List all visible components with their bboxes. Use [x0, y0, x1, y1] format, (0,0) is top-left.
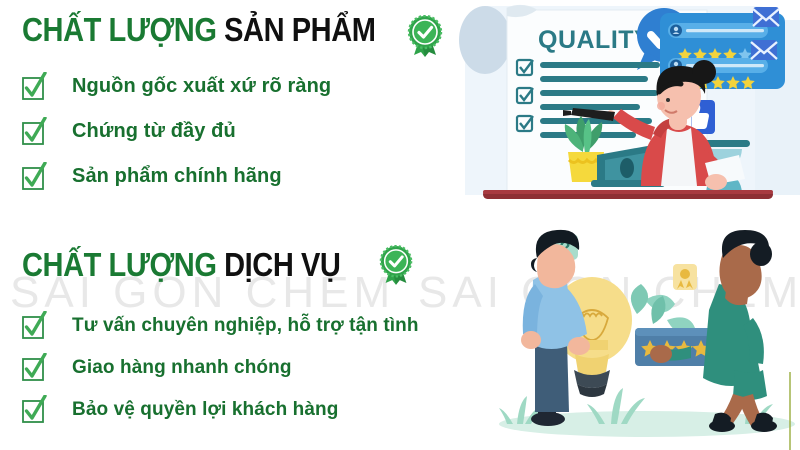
certified-seal-icon-service: [378, 245, 414, 285]
checkbox-checked-icon: [20, 162, 48, 192]
list-item-label: Sản phẩm chính hãng: [72, 165, 282, 188]
list-item: Tư vấn chuyên nghiệp, hỗ trợ tận tình: [20, 305, 419, 347]
service-handoff-illustration: ?: [495, 228, 800, 450]
heading-product-black: SẢN PHẨM: [224, 11, 375, 48]
man-blue-shirt: [521, 230, 590, 426]
heading-service-black: DỊCH VỤ: [224, 246, 340, 283]
heading-service-quality: CHẤT LƯỢNG DỊCH VỤ: [22, 248, 340, 281]
list-item: Sản phẩm chính hãng: [20, 154, 331, 199]
right-edge-accent-line: [789, 372, 791, 450]
heading-product-green: CHẤT LƯỢNG: [22, 11, 216, 48]
list-item: Chứng từ đầy đủ: [20, 109, 331, 154]
list-item-label: Chứng từ đầy đủ: [72, 120, 236, 143]
list-item-label: Tư vấn chuyên nghiệp, hỗ trợ tận tình: [72, 315, 419, 337]
product-quality-list: Nguồn gốc xuất xứ rõ ràng Chứng từ đầy đ…: [20, 64, 331, 199]
envelope-icon-1: [753, 7, 779, 27]
infographic-canvas: SAI GON CHEM SAI GON CHEM QUALITY: [0, 0, 800, 450]
checkbox-checked-icon: [20, 72, 48, 102]
checkbox-checked-icon: [20, 117, 48, 147]
envelope-icon-2: [751, 40, 777, 60]
list-item-label: Bảo vệ quyền lợi khách hàng: [72, 399, 338, 421]
certified-seal-icon-product: [406, 15, 444, 57]
leaf-decor: [631, 284, 695, 333]
heading-service-green: CHẤT LƯỢNG: [22, 246, 216, 283]
service-quality-list: Tư vấn chuyên nghiệp, hỗ trợ tận tình Gi…: [20, 305, 419, 431]
reward-badge-icon: [673, 264, 697, 290]
checkbox-checked-icon: [20, 353, 48, 383]
checkbox-checked-icon: [20, 311, 48, 341]
quality-title: QUALITY: [538, 26, 651, 54]
list-item: Bảo vệ quyền lợi khách hàng: [20, 389, 419, 431]
list-item-label: Giao hàng nhanh chóng: [72, 357, 292, 379]
list-item: Giao hàng nhanh chóng: [20, 347, 419, 389]
list-item-label: Nguồn gốc xuất xứ rõ ràng: [72, 75, 331, 98]
quality-checklist-illustration: QUALITY: [455, 0, 800, 220]
heading-product-quality: CHẤT LƯỢNG SẢN PHẨM: [22, 13, 375, 46]
list-item: Nguồn gốc xuất xứ rõ ràng: [20, 64, 331, 109]
checkbox-checked-icon: [20, 395, 48, 425]
